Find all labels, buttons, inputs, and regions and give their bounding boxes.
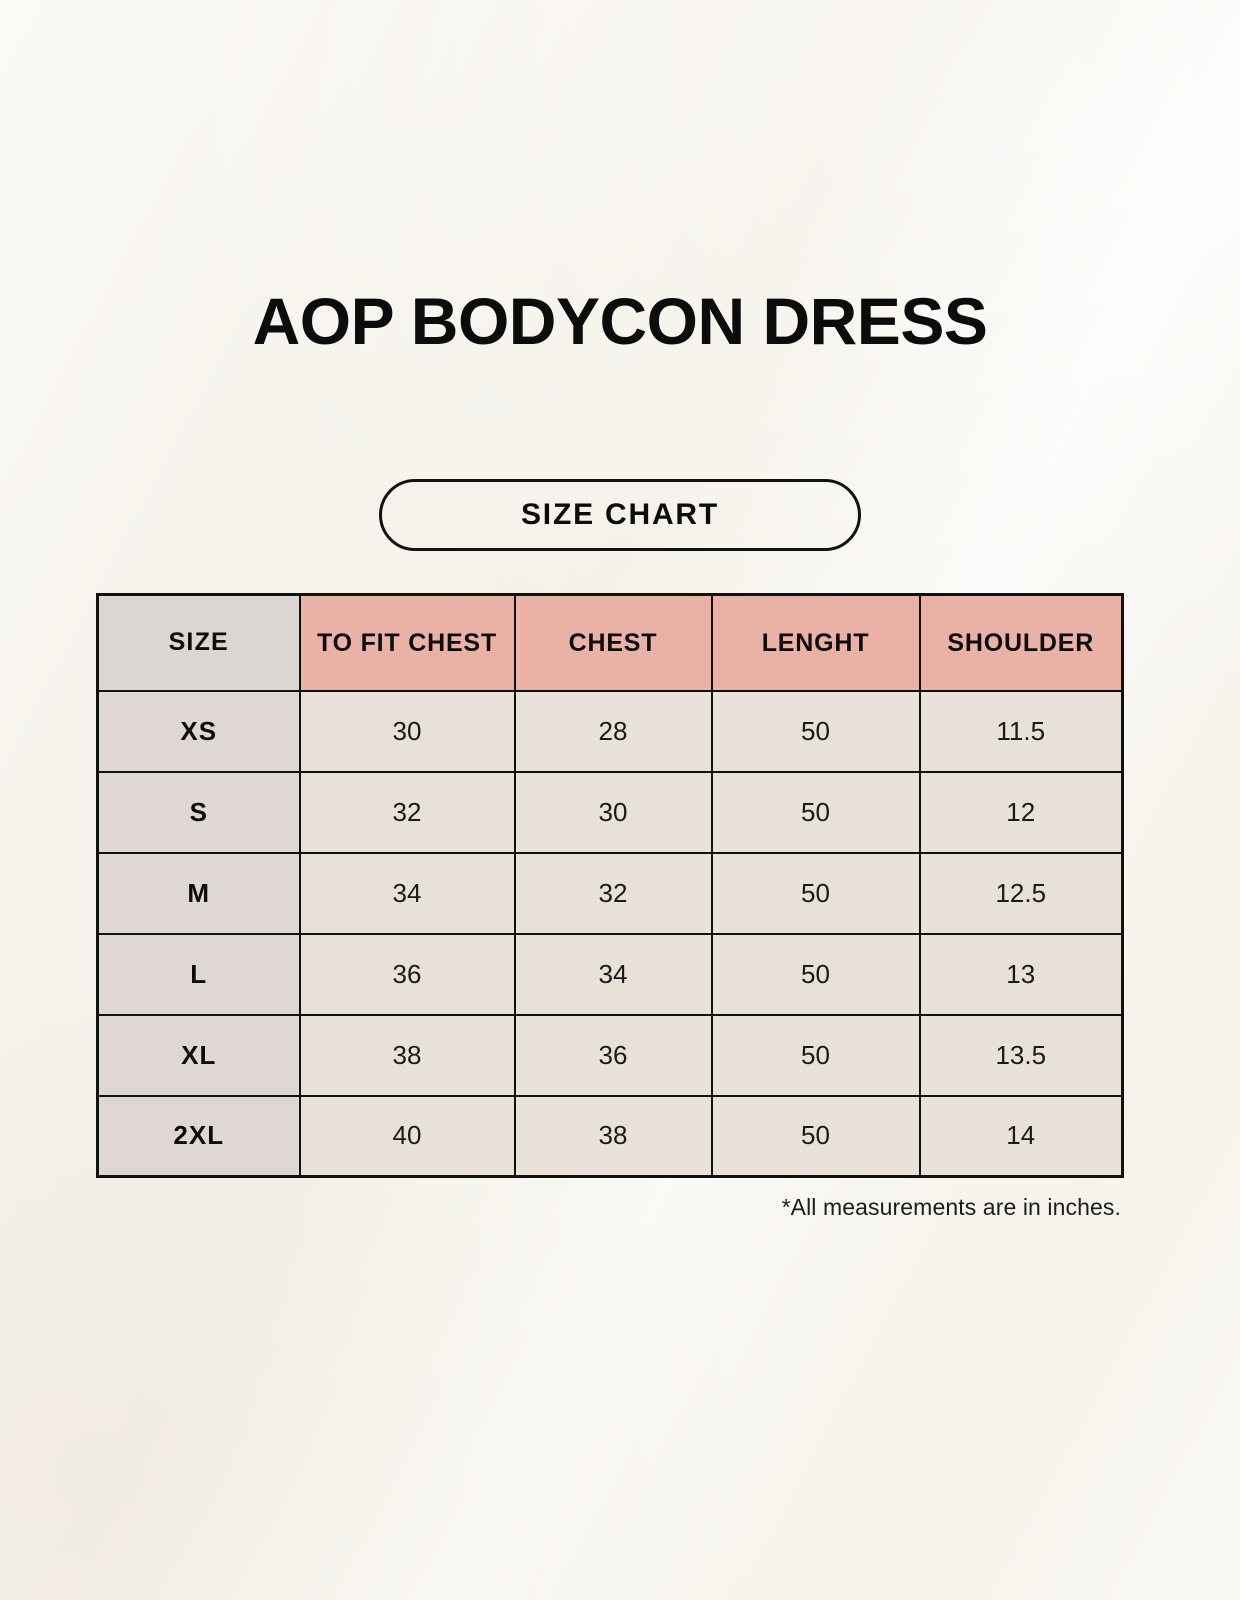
column-header-shoulder: SHOULDER bbox=[920, 595, 1123, 691]
cell-length: 50 bbox=[712, 1096, 920, 1177]
size-chart-badge-container: SIZE CHART bbox=[0, 479, 1240, 551]
cell-shoulder: 13.5 bbox=[920, 1015, 1123, 1096]
cell-chest: 28 bbox=[515, 691, 712, 772]
table-row: XL 38 36 50 13.5 bbox=[98, 1015, 1123, 1096]
cell-to-fit-chest: 36 bbox=[300, 934, 515, 1015]
cell-length: 50 bbox=[712, 1015, 920, 1096]
cell-size: XL bbox=[98, 1015, 300, 1096]
table-row: XS 30 28 50 11.5 bbox=[98, 691, 1123, 772]
size-chart-badge: SIZE CHART bbox=[379, 479, 861, 551]
cell-to-fit-chest: 40 bbox=[300, 1096, 515, 1177]
cell-to-fit-chest: 34 bbox=[300, 853, 515, 934]
cell-chest: 38 bbox=[515, 1096, 712, 1177]
size-table-container: SIZE TO FIT CHEST CHEST LENGHT SHOULDER … bbox=[96, 593, 1121, 1178]
page-title: AOP BODYCON DRESS bbox=[0, 286, 1240, 357]
cell-chest: 32 bbox=[515, 853, 712, 934]
cell-length: 50 bbox=[712, 934, 920, 1015]
size-chart-page: AOP BODYCON DRESS SIZE CHART SIZE TO FIT… bbox=[0, 0, 1240, 1600]
cell-size: 2XL bbox=[98, 1096, 300, 1177]
cell-size: XS bbox=[98, 691, 300, 772]
table-header-row: SIZE TO FIT CHEST CHEST LENGHT SHOULDER bbox=[98, 595, 1123, 691]
table-header: SIZE TO FIT CHEST CHEST LENGHT SHOULDER bbox=[98, 595, 1123, 691]
cell-size: L bbox=[98, 934, 300, 1015]
measurement-units-note: *All measurements are in inches. bbox=[96, 1194, 1121, 1221]
cell-chest: 30 bbox=[515, 772, 712, 853]
cell-length: 50 bbox=[712, 853, 920, 934]
cell-shoulder: 11.5 bbox=[920, 691, 1123, 772]
table-body: XS 30 28 50 11.5 S 32 30 50 12 M 34 32 bbox=[98, 691, 1123, 1177]
size-chart-table: SIZE TO FIT CHEST CHEST LENGHT SHOULDER … bbox=[96, 593, 1124, 1178]
table-row: M 34 32 50 12.5 bbox=[98, 853, 1123, 934]
column-header-length: LENGHT bbox=[712, 595, 920, 691]
column-header-chest: CHEST bbox=[515, 595, 712, 691]
cell-shoulder: 14 bbox=[920, 1096, 1123, 1177]
cell-size: S bbox=[98, 772, 300, 853]
cell-to-fit-chest: 32 bbox=[300, 772, 515, 853]
cell-chest: 34 bbox=[515, 934, 712, 1015]
table-row: 2XL 40 38 50 14 bbox=[98, 1096, 1123, 1177]
cell-length: 50 bbox=[712, 691, 920, 772]
cell-chest: 36 bbox=[515, 1015, 712, 1096]
cell-shoulder: 12 bbox=[920, 772, 1123, 853]
cell-size: M bbox=[98, 853, 300, 934]
column-header-to-fit-chest: TO FIT CHEST bbox=[300, 595, 515, 691]
cell-to-fit-chest: 30 bbox=[300, 691, 515, 772]
cell-shoulder: 13 bbox=[920, 934, 1123, 1015]
column-header-size: SIZE bbox=[98, 595, 300, 691]
cell-length: 50 bbox=[712, 772, 920, 853]
table-row: S 32 30 50 12 bbox=[98, 772, 1123, 853]
cell-to-fit-chest: 38 bbox=[300, 1015, 515, 1096]
table-row: L 36 34 50 13 bbox=[98, 934, 1123, 1015]
cell-shoulder: 12.5 bbox=[920, 853, 1123, 934]
